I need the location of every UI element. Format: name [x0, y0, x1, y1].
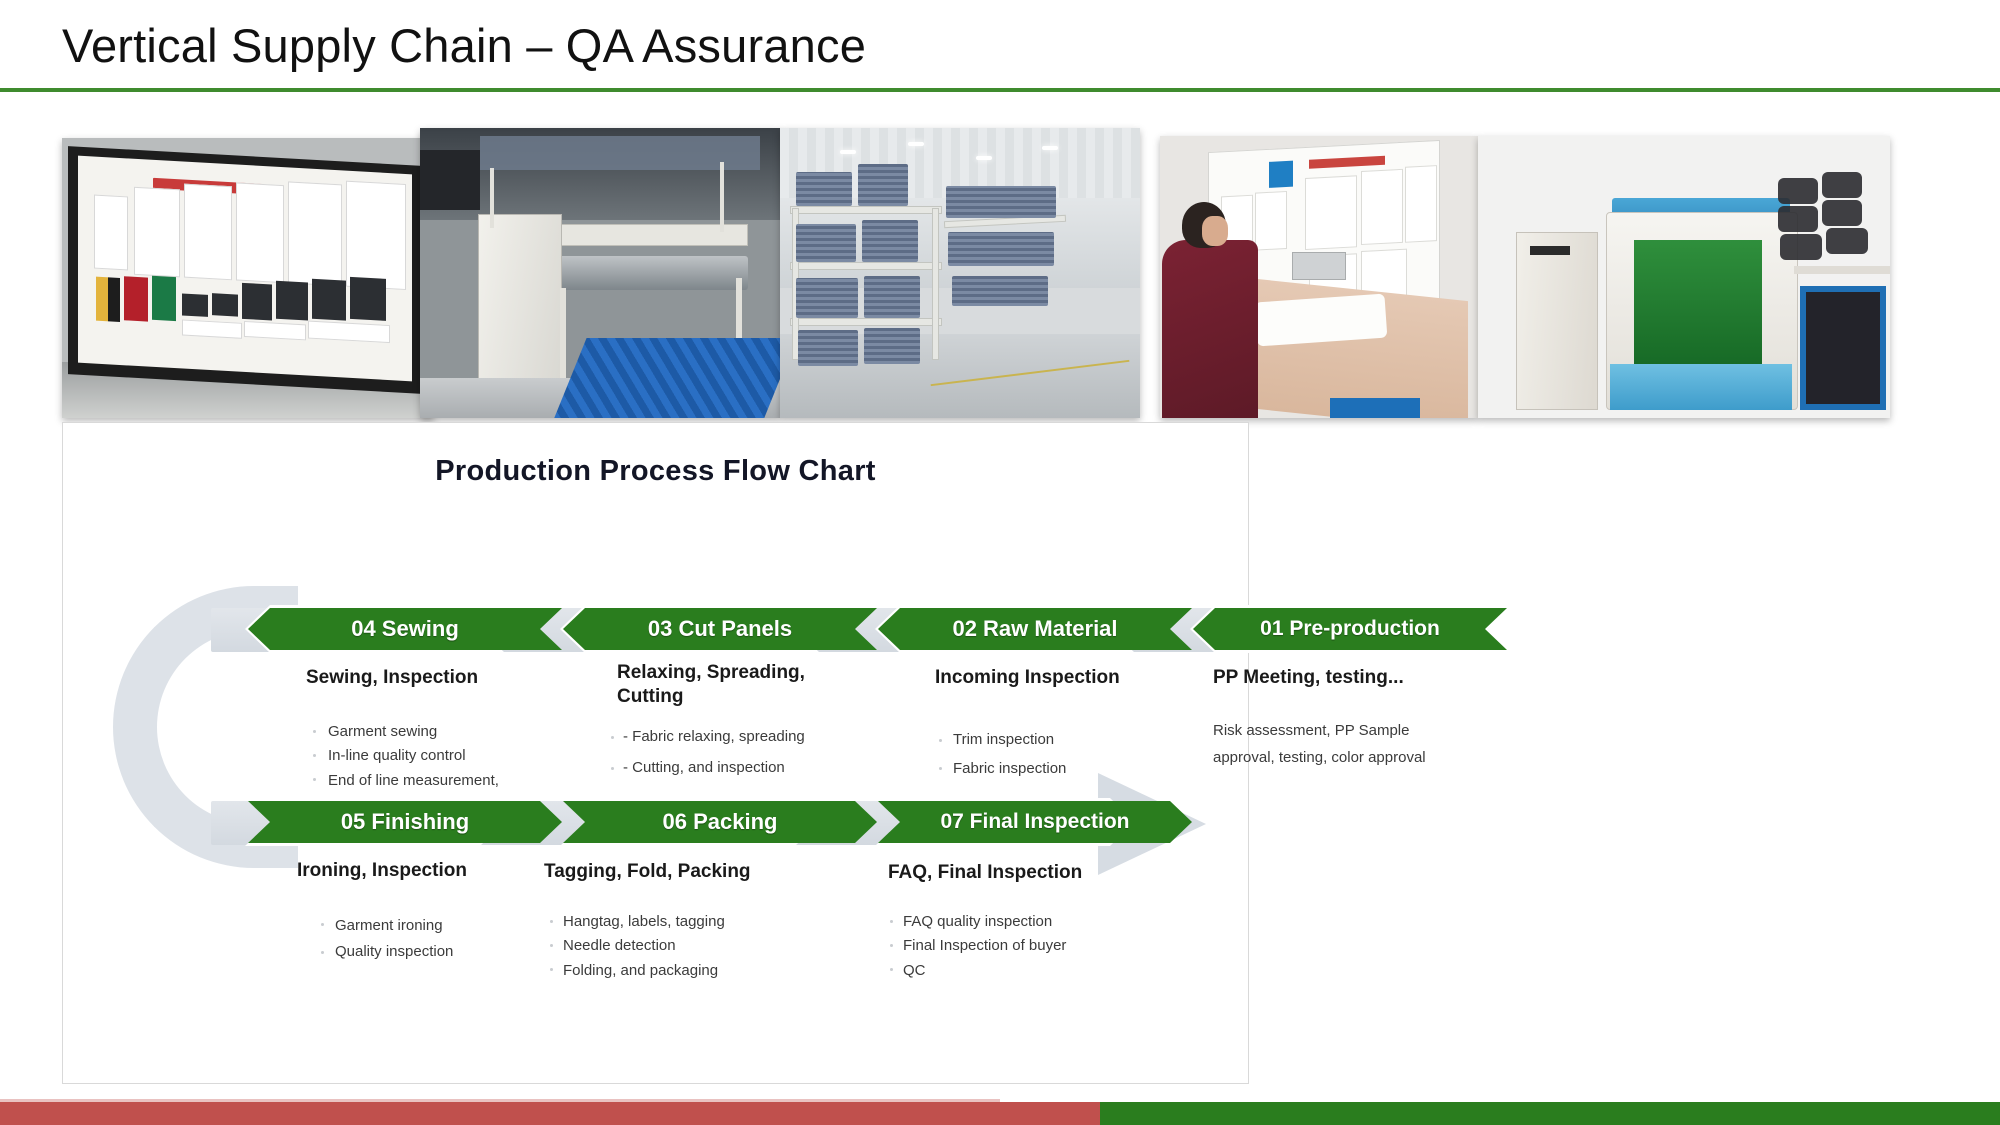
photo-fabric-roll-racks: [780, 128, 1140, 418]
bullet-dot: [890, 920, 893, 923]
list-item: Folding, and packaging: [563, 959, 813, 983]
photo-spreading-machine: [420, 128, 780, 418]
step-chevron-02-raw-material[interactable]: 02 Raw Material: [878, 608, 1192, 650]
step-chevron-07-final-inspection[interactable]: 07 Final Inspection: [878, 801, 1192, 843]
list-item: Needle detection: [563, 934, 813, 958]
list-item: Quality inspection: [335, 939, 575, 965]
production-flow-chart-card: Production Process Flow Chart 04 Sewing …: [62, 422, 1249, 1084]
bullet-dot: [611, 736, 614, 739]
bullet-dot: [550, 920, 553, 923]
bottom-bar-red: [0, 1102, 1100, 1125]
step-tag-label: 07 Final Inspection: [940, 810, 1129, 834]
step-chevron-05-finishing[interactable]: 05 Finishing: [248, 801, 562, 843]
list-item: Trim inspection: [953, 728, 1183, 752]
step-tag-label: 06 Packing: [663, 809, 778, 835]
step-heading-04: Sewing, Inspection: [306, 666, 546, 690]
title-divider: [0, 88, 2000, 92]
list-item: End of line measurement,: [328, 769, 578, 793]
bullet-dot: [890, 968, 893, 971]
list-item: Risk assessment, PP Sample approval, tes…: [1213, 717, 1435, 771]
step-chevron-06-packing[interactable]: 06 Packing: [563, 801, 877, 843]
bullet-dot: [939, 739, 942, 742]
bullet-dot: [313, 778, 316, 781]
list-item: - Cutting, and inspection: [623, 756, 883, 780]
list-item: - Fabric relaxing, spreading: [623, 725, 883, 749]
step-chevron-01-pre-production[interactable]: 01 Pre-production: [1193, 608, 1507, 650]
bullet-dot: [890, 944, 893, 947]
step-tag-label: 05 Finishing: [341, 809, 469, 835]
list-item: Garment ironing: [335, 913, 575, 939]
bullet-dot: [321, 923, 324, 926]
list-item: Garment sewing: [328, 720, 578, 744]
step-items-05: Garment ironing Quality inspection: [335, 913, 575, 966]
step-items-07: FAQ quality inspection Final Inspection …: [903, 910, 1153, 983]
page-title: Vertical Supply Chain – QA Assurance: [62, 18, 866, 73]
step-tag-label: 02 Raw Material: [952, 616, 1117, 642]
list-item: Hangtag, labels, tagging: [563, 910, 813, 934]
step-heading-05: Ironing, Inspection: [297, 859, 547, 883]
bullet-dot: [313, 754, 316, 757]
bullet-dot: [939, 767, 942, 770]
step-chevron-04-sewing[interactable]: 04 Sewing: [248, 608, 562, 650]
step-chevron-03-cut-panels[interactable]: 03 Cut Panels: [563, 608, 877, 650]
step-heading-06: Tagging, Fold, Packing: [544, 860, 814, 884]
step-heading-02: Incoming Inspection: [935, 666, 1175, 690]
flow-chart-title: Production Process Flow Chart: [63, 455, 1248, 488]
bullet-dot: [321, 951, 324, 954]
step-tag-label: 03 Cut Panels: [648, 616, 792, 642]
bullet-dot: [550, 944, 553, 947]
step-heading-07: FAQ, Final Inspection: [888, 861, 1148, 885]
list-item: FAQ quality inspection: [903, 910, 1153, 934]
photo-fabric-inspection-standards-board: [62, 138, 434, 418]
step-tag-label: 04 Sewing: [351, 616, 459, 642]
bottom-bar-green: [1100, 1102, 2000, 1125]
step-items-03: - Fabric relaxing, spreading - Cutting, …: [623, 725, 883, 781]
list-item: In-line quality control: [328, 744, 578, 768]
step-tag-label: 01 Pre-production: [1260, 617, 1440, 641]
list-item: QC: [903, 959, 1153, 983]
bullet-dot: [313, 730, 316, 733]
step-items-06: Hangtag, labels, tagging Needle detectio…: [563, 910, 813, 983]
photo-needle-detector-machine: [1478, 136, 1890, 418]
photo-strip: [0, 128, 2000, 423]
photo-incoming-inspection-station: [1160, 136, 1478, 418]
step-items-01: Risk assessment, PP Sample approval, tes…: [1213, 717, 1435, 771]
list-item: Final Inspection of buyer: [903, 934, 1153, 958]
list-item: Fabric inspection: [953, 757, 1183, 781]
step-items-02: Trim inspection Fabric inspection: [953, 728, 1183, 782]
bullet-dot: [611, 767, 614, 770]
bullet-dot: [550, 968, 553, 971]
step-heading-01: PP Meeting, testing...: [1213, 666, 1453, 690]
step-heading-03: Relaxing, Spreading, Cutting: [617, 661, 852, 709]
